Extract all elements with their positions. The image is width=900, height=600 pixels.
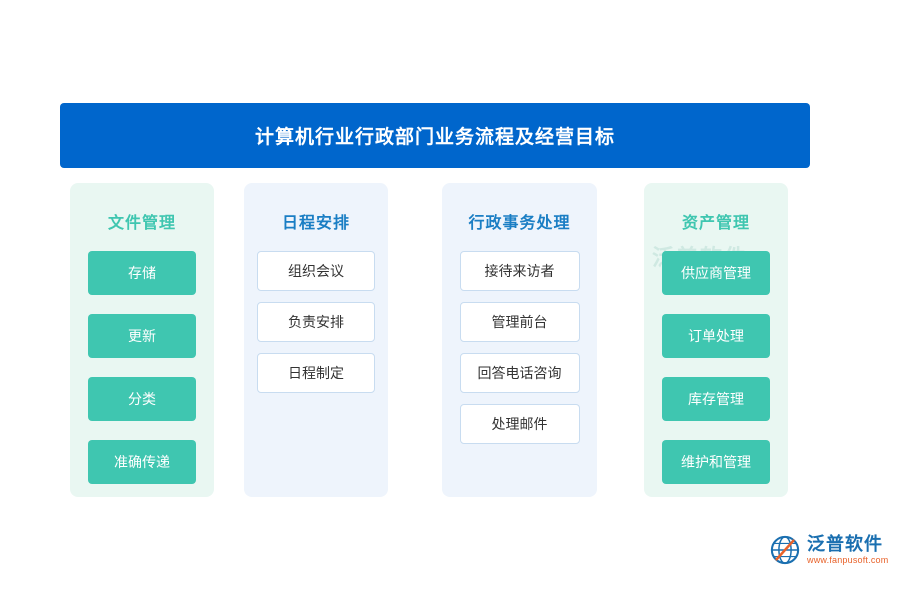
logo-name: 泛普软件 xyxy=(807,535,888,554)
node-item[interactable]: 供应商管理 xyxy=(662,251,770,295)
node-item[interactable]: 接待来访者 xyxy=(460,251,580,291)
column-title: 资产管理 xyxy=(682,209,750,233)
node-item[interactable]: 库存管理 xyxy=(662,377,770,421)
column-asset-management: 资产管理 供应商管理 订单处理 库存管理 维护和管理 xyxy=(644,183,788,497)
node-item[interactable]: 回答电话咨询 xyxy=(460,353,580,393)
column-administrative-affairs: 行政事务处理 接待来访者 管理前台 回答电话咨询 处理邮件 xyxy=(442,183,597,497)
column-items: 供应商管理 订单处理 库存管理 维护和管理 xyxy=(644,251,788,503)
node-item[interactable]: 分类 xyxy=(88,377,196,421)
node-item[interactable]: 订单处理 xyxy=(662,314,770,358)
node-item[interactable]: 负责安排 xyxy=(257,302,375,342)
node-item[interactable]: 组织会议 xyxy=(257,251,375,291)
column-items: 存储 更新 分类 准确传递 xyxy=(70,251,214,503)
node-item[interactable]: 日程制定 xyxy=(257,353,375,393)
column-file-management: 文件管理 存储 更新 分类 准确传递 xyxy=(70,183,214,497)
column-title: 文件管理 xyxy=(108,209,176,233)
logo-url: www.fanpusoft.com xyxy=(807,556,888,565)
brand-logo: 泛普软件 www.fanpusoft.com xyxy=(770,535,888,565)
node-item[interactable]: 管理前台 xyxy=(460,302,580,342)
column-schedule: 日程安排 组织会议 负责安排 日程制定 xyxy=(244,183,388,497)
diagram-canvas: 计算机行业行政部门业务流程及经营目标 文件管理 存储 更新 分类 准确传递 日程… xyxy=(0,0,900,600)
column-title: 行政事务处理 xyxy=(468,209,570,233)
logo-text-wrap: 泛普软件 www.fanpusoft.com xyxy=(807,535,888,565)
diagram-title-banner: 计算机行业行政部门业务流程及经营目标 xyxy=(60,103,810,168)
column-items: 组织会议 负责安排 日程制定 xyxy=(244,251,388,404)
node-item[interactable]: 存储 xyxy=(88,251,196,295)
node-item[interactable]: 准确传递 xyxy=(88,440,196,484)
logo-globe-icon xyxy=(770,535,800,565)
column-items: 接待来访者 管理前台 回答电话咨询 处理邮件 xyxy=(442,251,597,455)
diagram-title: 计算机行业行政部门业务流程及经营目标 xyxy=(255,122,615,149)
node-item[interactable]: 维护和管理 xyxy=(662,440,770,484)
node-item[interactable]: 更新 xyxy=(88,314,196,358)
node-item[interactable]: 处理邮件 xyxy=(460,404,580,444)
column-title: 日程安排 xyxy=(282,209,350,233)
